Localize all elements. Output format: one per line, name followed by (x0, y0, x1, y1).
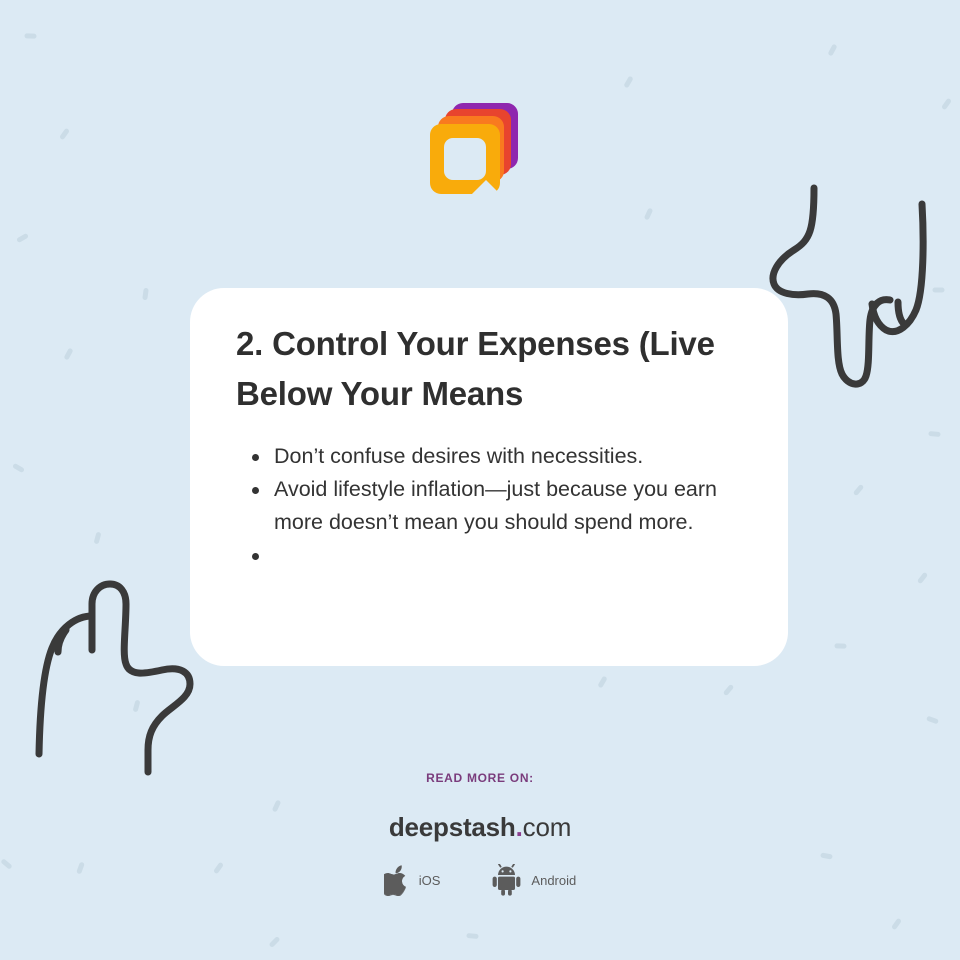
card-title: 2. Control Your Expenses (Live Below You… (236, 319, 746, 419)
brand-wordmark: deepstash.com (0, 812, 960, 843)
ios-label: iOS (419, 873, 441, 888)
confetti-dash (941, 98, 952, 111)
apple-icon (384, 865, 410, 896)
content-card: 2. Control Your Expenses (Live Below You… (190, 288, 788, 666)
logo-inner-hole (444, 138, 486, 180)
deepstash-logo (424, 100, 524, 200)
confetti-dash (891, 918, 902, 931)
confetti-dash (142, 288, 149, 301)
pointing-up-hand-icon (22, 558, 202, 785)
confetti-dash (272, 800, 282, 813)
ios-store-badge[interactable]: iOS (384, 865, 441, 896)
brand-name: deepstash (389, 812, 516, 842)
card-bullet-list: Don’t confuse desires with necessities. … (236, 440, 756, 572)
list-item (236, 539, 756, 572)
confetti-dash (63, 348, 73, 361)
android-icon (492, 864, 522, 896)
confetti-dash (623, 76, 633, 89)
confetti-dash (644, 208, 654, 221)
confetti-dash (928, 431, 940, 437)
confetti-dash (820, 852, 833, 859)
android-store-badge[interactable]: Android (492, 864, 576, 896)
store-badges: iOS Android (0, 864, 960, 896)
list-item: Avoid lifestyle inflation—just because y… (236, 473, 756, 539)
brand-tld: com (523, 812, 572, 842)
read-more-label: READ MORE ON: (0, 771, 960, 785)
confetti-dash (723, 684, 735, 696)
confetti-dash (933, 288, 945, 293)
confetti-dash (59, 128, 70, 141)
confetti-dash (268, 936, 280, 948)
brand-dot: . (516, 812, 523, 842)
confetti-dash (597, 676, 607, 689)
confetti-dash (834, 643, 846, 648)
confetti-dash (466, 933, 478, 939)
confetti-dash (917, 572, 928, 585)
confetti-dash (12, 463, 25, 473)
confetti-dash (853, 484, 865, 496)
confetti-dash (16, 233, 29, 243)
poster-canvas: 2. Control Your Expenses (Live Below You… (0, 0, 960, 960)
list-item: Don’t confuse desires with necessities. (236, 440, 756, 473)
confetti-dash (827, 44, 837, 57)
confetti-dash (133, 700, 141, 713)
confetti-dash (24, 33, 36, 38)
android-label: Android (531, 873, 576, 888)
confetti-dash (94, 532, 102, 545)
confetti-dash (926, 716, 939, 725)
